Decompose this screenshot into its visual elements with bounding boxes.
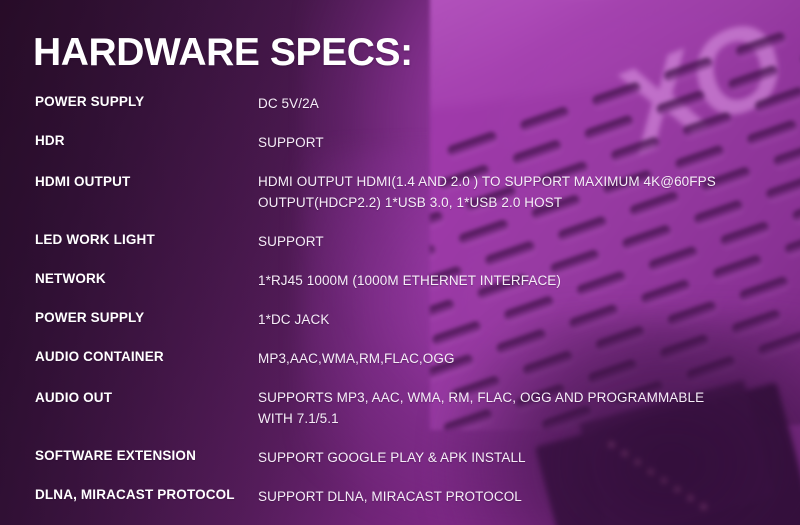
- spec-row: NETWORK1*RJ45 1000M (1000M ETHERNET INTE…: [0, 270, 800, 291]
- spec-value: DC 5V/2A: [258, 93, 800, 114]
- spec-row: LED WORK LIGHTSUPPORT: [0, 231, 800, 252]
- spec-table: POWER SUPPLYDC 5V/2AHDRSUPPORTHDMI OUTPU…: [0, 93, 800, 525]
- page-title: HARDWARE SPECS:: [33, 33, 413, 72]
- spec-value: SUPPORT: [258, 231, 800, 252]
- spec-label: POWER SUPPLY: [35, 93, 258, 110]
- spec-value: SUPPORTS MP3, AAC, WMA, RM, FLAC, OGG AN…: [258, 387, 800, 429]
- spec-label: AUDIO CONTAINER: [35, 348, 258, 365]
- spec-label: LED WORK LIGHT: [35, 231, 258, 248]
- spec-row: HDRSUPPORT: [0, 132, 800, 153]
- spec-label: DLNA, MIRACAST PROTOCOL: [35, 486, 258, 503]
- spec-row: AUDIO CONTAINERMP3,AAC,WMA,RM,FLAC,OGG: [0, 348, 800, 369]
- spec-label: NETWORK: [35, 270, 258, 287]
- spec-value: 1*DC JACK: [258, 309, 800, 330]
- spec-value: SUPPORT DLNA, MIRACAST PROTOCOL: [258, 486, 800, 507]
- spec-row: SOFTWARE EXTENSIONSUPPORT GOOGLE PLAY & …: [0, 447, 800, 468]
- spec-row: AUDIO OUTSUPPORTS MP3, AAC, WMA, RM, FLA…: [0, 387, 800, 429]
- spec-label: POWER SUPPLY: [35, 309, 258, 326]
- hardware-specs-sheet: XO HARDWARE SPECS: POWER SUPPLYDC 5V/2AH…: [0, 0, 800, 525]
- spec-row: POWER SUPPLYDC 5V/2A: [0, 93, 800, 114]
- spec-value: SUPPORT GOOGLE PLAY & APK INSTALL: [258, 447, 800, 468]
- spec-value: HDMI OUTPUT HDMI(1.4 AND 2.0 ) TO SUPPOR…: [258, 171, 800, 213]
- spec-row: HDMI OUTPUTHDMI OUTPUT HDMI(1.4 AND 2.0 …: [0, 171, 800, 213]
- spec-value: SUPPORT: [258, 132, 800, 153]
- spec-label: AUDIO OUT: [35, 387, 258, 408]
- spec-label: SOFTWARE EXTENSION: [35, 447, 258, 464]
- spec-row: POWER SUPPLY1*DC JACK: [0, 309, 800, 330]
- spec-label: HDR: [35, 132, 258, 149]
- spec-value: 1*RJ45 1000M (1000M ETHERNET INTERFACE): [258, 270, 800, 291]
- content-layer: HARDWARE SPECS: POWER SUPPLYDC 5V/2AHDRS…: [0, 0, 800, 525]
- spec-row: DLNA, MIRACAST PROTOCOLSUPPORT DLNA, MIR…: [0, 486, 800, 507]
- spec-value: MP3,AAC,WMA,RM,FLAC,OGG: [258, 348, 800, 369]
- spec-label: HDMI OUTPUT: [35, 171, 258, 192]
